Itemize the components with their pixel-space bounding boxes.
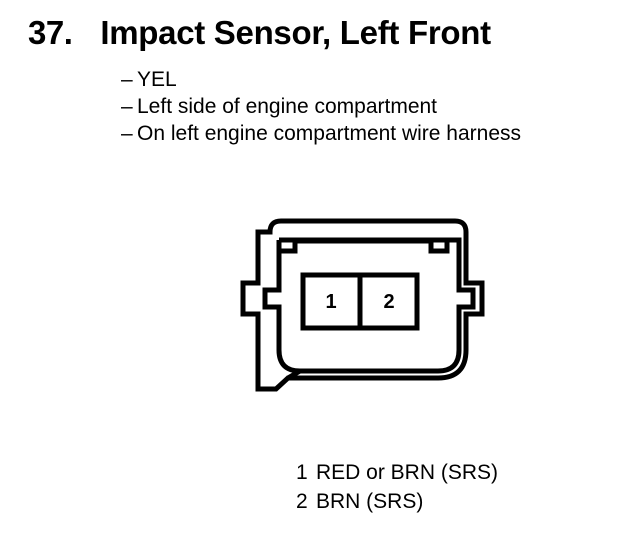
title-row: 37. Impact Sensor, Left Front bbox=[28, 16, 491, 49]
cavity-number-2: 2 bbox=[383, 291, 394, 313]
spec-text: YEL bbox=[137, 66, 177, 93]
dash-bullet-icon: – bbox=[121, 93, 137, 120]
legend-pin-description: RED or BRN (SRS) bbox=[316, 458, 498, 487]
cavity-number-1: 1 bbox=[325, 291, 336, 313]
legend-pin-number: 2 bbox=[296, 487, 316, 516]
legend-row: 2 BRN (SRS) bbox=[296, 487, 596, 516]
service-manual-page: 37. Impact Sensor, Left Front – YEL – Le… bbox=[0, 0, 640, 536]
spec-text: On left engine compartment wire harness bbox=[137, 120, 521, 147]
connector-inner-wall bbox=[265, 240, 473, 371]
dash-bullet-icon: – bbox=[121, 120, 137, 147]
connector-face-view: 1 2 bbox=[232, 210, 504, 400]
pin-legend: 1 RED or BRN (SRS) 2 BRN (SRS) bbox=[296, 458, 596, 516]
legend-pin-number: 1 bbox=[296, 458, 316, 487]
dash-bullet-icon: – bbox=[121, 66, 137, 93]
spec-line: – Left side of engine compartment bbox=[121, 93, 621, 120]
spec-line: – On left engine compartment wire harnes… bbox=[121, 120, 621, 147]
legend-row: 1 RED or BRN (SRS) bbox=[296, 458, 596, 487]
spec-line: – YEL bbox=[121, 66, 621, 93]
item-number: 37. bbox=[28, 16, 72, 49]
specification-list: – YEL – Left side of engine compartment … bbox=[121, 66, 621, 147]
connector-diagram: 1 2 bbox=[232, 210, 504, 400]
spec-text: Left side of engine compartment bbox=[137, 93, 437, 120]
page-title: Impact Sensor, Left Front bbox=[100, 16, 490, 49]
legend-pin-description: BRN (SRS) bbox=[316, 487, 423, 516]
